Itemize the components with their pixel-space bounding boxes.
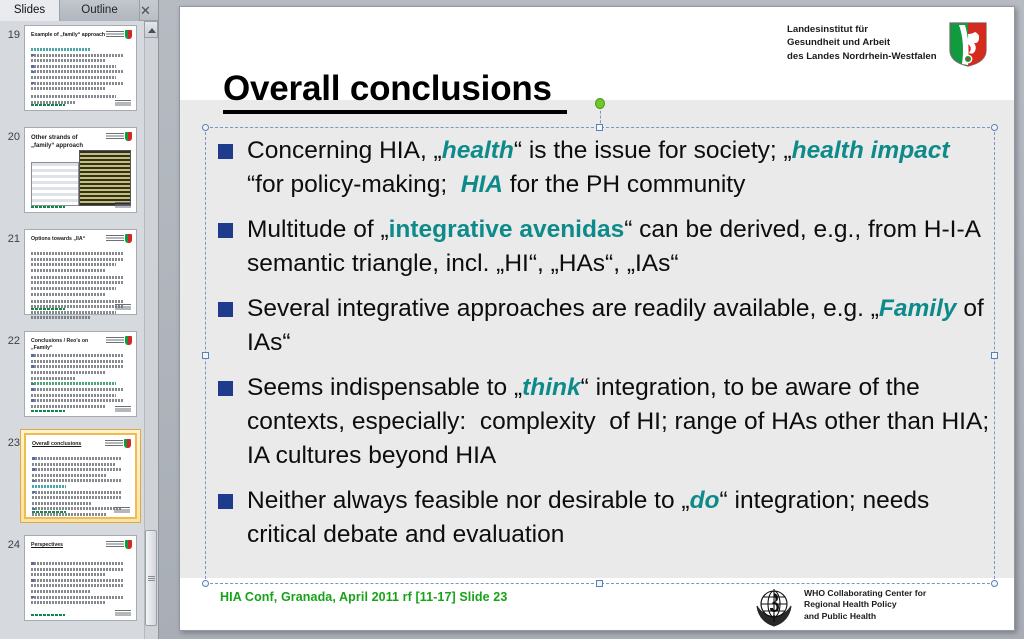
handle-bottom-left[interactable]	[202, 580, 209, 587]
thumbnail-preview: Example of „family“ approach	[24, 25, 137, 111]
thumbnail-body	[31, 252, 131, 302]
nrw-logo-icon	[106, 234, 132, 243]
handle-middle-right[interactable]	[991, 352, 998, 359]
nrw-logo-icon	[106, 132, 132, 141]
who-logo-icon	[115, 304, 131, 311]
powerpoint-editor-window: Slides Outline ✕ 19 Example of „family“ …	[0, 0, 1024, 639]
thumbnail-list[interactable]: 19 Example of „family“ approach	[0, 21, 144, 639]
thumbnail-title: Example of „family“ approach	[31, 32, 106, 39]
bullet-square-icon	[218, 144, 233, 159]
who-emblem-icon	[752, 585, 796, 629]
list-item-text: Seems indispensable to „think“ integrati…	[247, 371, 990, 473]
handle-top-right[interactable]	[991, 124, 998, 131]
slide-stage: Landesinstitut für Gesundheit und Arbeit…	[170, 0, 1024, 639]
slide-footnote: HIA Conf, Granada, April 2011 rf [11-17]…	[220, 590, 507, 604]
who-logo-icon	[115, 100, 131, 107]
thumbnail-slide-20[interactable]: 20 Other strands of „family“ approach	[0, 125, 144, 226]
thumbnail-title: Conclusions / Reo’s on „Family“	[31, 338, 106, 351]
who-collaborating-center-text: WHO Collaborating Center for Regional He…	[804, 588, 926, 622]
thumbnail-preview: Overall conclusions	[24, 433, 137, 519]
thumbnail-body	[31, 354, 131, 404]
slide-canvas[interactable]: Landesinstitut für Gesundheit und Arbeit…	[179, 6, 1015, 631]
thumbnail-title: Options towards „IIA“	[31, 236, 106, 243]
nrw-coat-of-arms-icon	[949, 22, 987, 67]
who-logo-icon	[115, 202, 131, 209]
thumbnail-slide-21[interactable]: 21 Options towards „IIA“	[0, 227, 144, 328]
bullet-square-icon	[218, 223, 233, 238]
list-item-text: Several integrative approaches are readi…	[247, 292, 990, 360]
rotation-handle[interactable]	[595, 98, 605, 109]
who-logo-icon	[114, 507, 130, 514]
thumbnail-number: 20	[4, 131, 20, 143]
handle-middle-left[interactable]	[202, 352, 209, 359]
thumbnail-number: 22	[4, 335, 20, 347]
thumbnail-table	[31, 162, 79, 206]
thumbnail-slide-22[interactable]: 22 Conclusions / Reo’s on „Family“	[0, 329, 144, 430]
scroll-up-button[interactable]	[144, 21, 158, 38]
bullet-square-icon	[218, 381, 233, 396]
who-collaborating-center-block: WHO Collaborating Center for Regional He…	[752, 585, 982, 629]
bullet-square-icon	[218, 302, 233, 317]
handle-bottom-right[interactable]	[991, 580, 998, 587]
panel-tab-bar: Slides Outline ✕	[0, 0, 158, 21]
who-logo-icon	[115, 406, 131, 413]
thumbnail-scrollbar-thumb[interactable]	[145, 530, 157, 626]
handle-bottom-center[interactable]	[596, 580, 603, 587]
thumbnail-body	[31, 48, 131, 98]
handle-top-center[interactable]	[596, 124, 603, 131]
content-placeholder-selection[interactable]: Concerning HIA, „health“ is the issue fo…	[205, 127, 995, 584]
list-item-text: Neither always feasible nor desirable to…	[247, 484, 990, 552]
list-item[interactable]: Neither always feasible nor desirable to…	[218, 484, 990, 552]
list-item-text: Concerning HIA, „health“ is the issue fo…	[247, 134, 990, 202]
thumbnail-preview: Conclusions / Reo’s on „Family“	[24, 331, 137, 417]
list-item-text: Multitude of „integrative avenidas“ can …	[247, 213, 990, 281]
bullet-square-icon	[218, 494, 233, 509]
thumbnail-body	[32, 457, 130, 505]
slide-thumbnail-pane: Slides Outline ✕ 19 Example of „family“ …	[0, 0, 159, 639]
thumbnail-number: 21	[4, 233, 20, 245]
institute-brand: Landesinstitut für Gesundheit und Arbeit…	[787, 21, 987, 67]
nrw-logo-icon	[106, 540, 132, 549]
nrw-logo-icon	[105, 439, 131, 448]
handle-top-left[interactable]	[202, 124, 209, 131]
close-icon[interactable]: ✕	[138, 3, 153, 18]
thumbnail-body	[31, 562, 131, 608]
who-logo-icon	[115, 610, 131, 617]
thumbnail-number: 24	[4, 539, 20, 551]
bullet-list[interactable]: Concerning HIA, „health“ is the issue fo…	[218, 134, 990, 563]
thumbnail-preview: Options towards „IIA“	[24, 229, 137, 315]
title-underline	[223, 110, 567, 114]
tab-slides[interactable]: Slides	[0, 0, 60, 21]
thumbnail-preview: Perspectives	[24, 535, 137, 621]
thumbnail-title: Overall conclusions	[32, 441, 105, 448]
list-item[interactable]: Seems indispensable to „think“ integrati…	[218, 371, 990, 473]
institute-brand-text: Landesinstitut für Gesundheit und Arbeit…	[787, 23, 937, 63]
nrw-logo-icon	[106, 30, 132, 39]
thumbnail-title: Other strands of „family“ approach	[31, 134, 84, 150]
thumbnail-title: Perspectives	[31, 542, 106, 549]
list-item[interactable]: Multitude of „integrative avenidas“ can …	[218, 213, 990, 281]
thumbnail-slide-24[interactable]: 24 Perspectives	[0, 533, 144, 634]
thumbnail-image	[79, 150, 131, 206]
tab-outline[interactable]: Outline	[60, 0, 140, 21]
thumbnail-slide-19[interactable]: 19 Example of „family“ approach	[0, 23, 144, 124]
list-item[interactable]: Concerning HIA, „health“ is the issue fo…	[218, 134, 990, 202]
thumbnail-preview: Other strands of „family“ approach	[24, 127, 137, 213]
thumbnail-number: 19	[4, 29, 20, 41]
thumbnail-slide-23[interactable]: 23 Overall conclusions	[0, 431, 144, 532]
list-item[interactable]: Several integrative approaches are readi…	[218, 292, 990, 360]
nrw-logo-icon	[106, 336, 132, 345]
page-title: Overall conclusions	[223, 69, 552, 109]
thumbnail-number: 23	[4, 437, 20, 449]
